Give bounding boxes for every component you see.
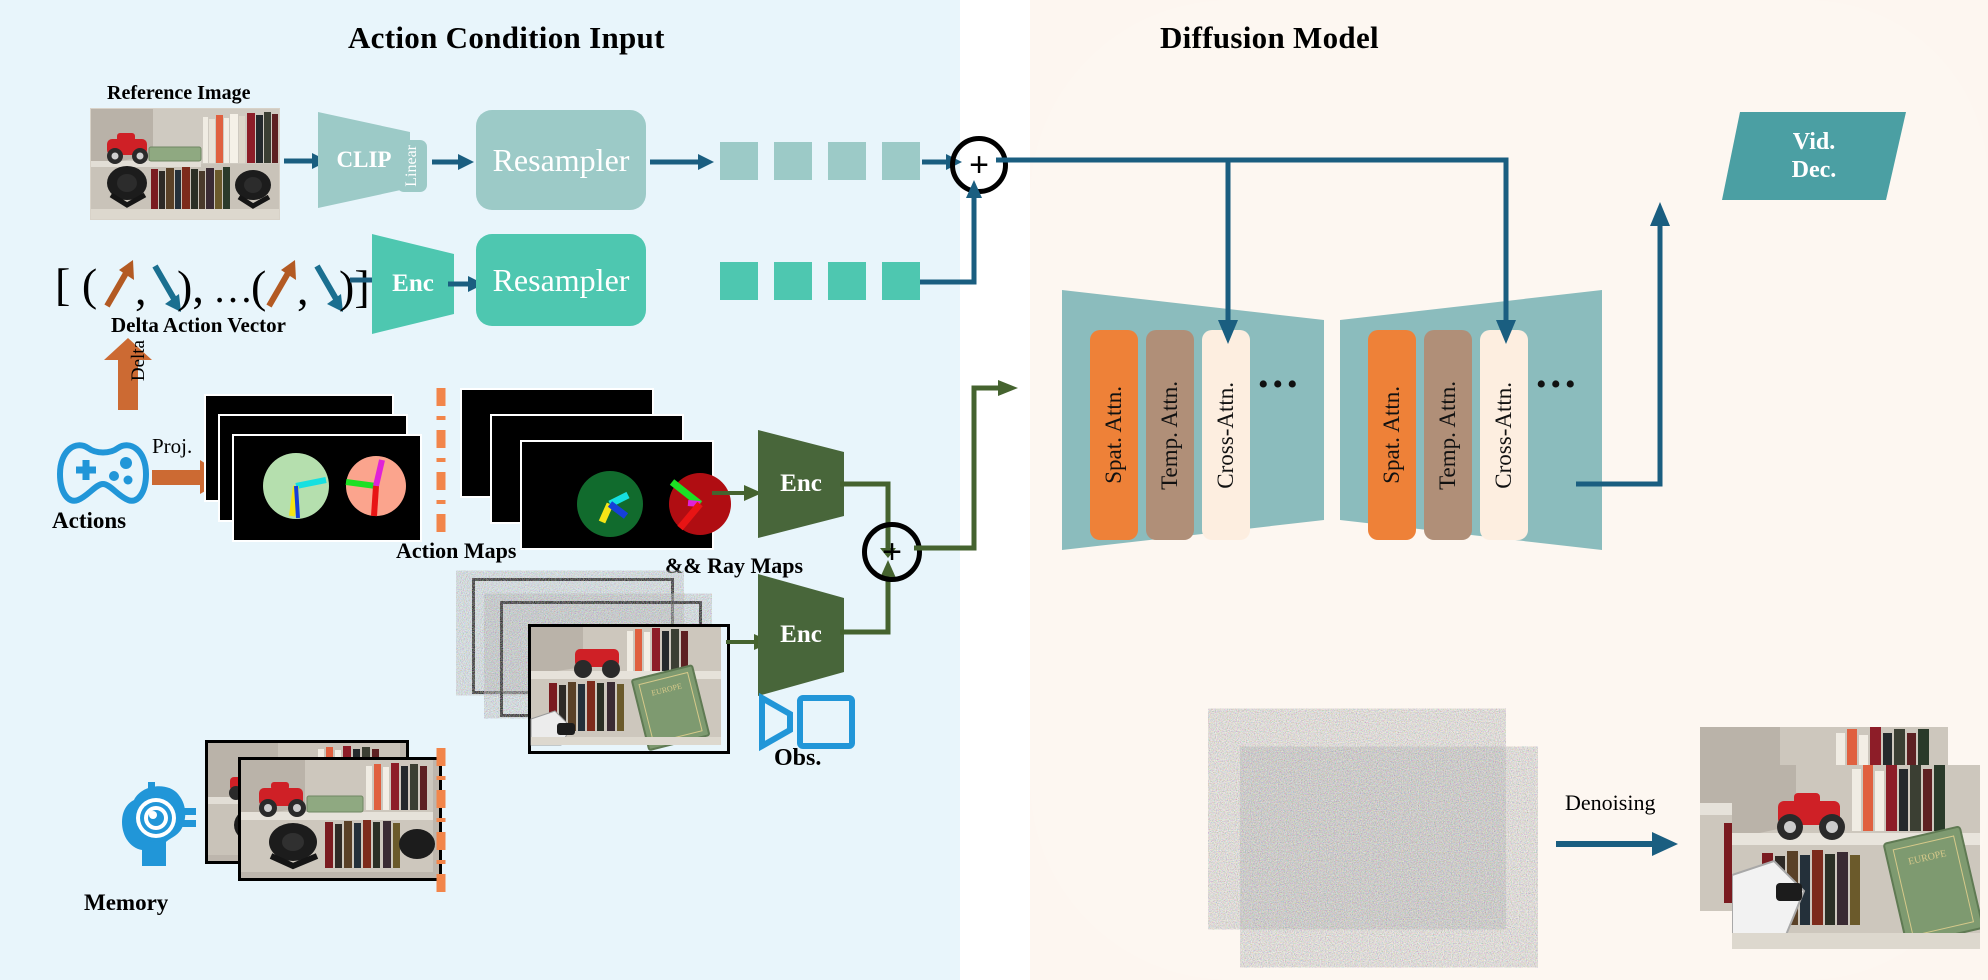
denoise-output-front: EUROPE	[1732, 765, 1980, 949]
action-encoder[interactable]: Enc	[370, 232, 456, 336]
svg-text:),: ),	[177, 261, 204, 312]
arrow-action-tokens-to-sum	[918, 178, 988, 288]
action-token	[720, 262, 758, 300]
delta-action-vector-expression: [ ( , ), … ( , )]	[55, 248, 375, 318]
reference-image-art	[91, 109, 279, 219]
plus-symbol: +	[969, 148, 989, 182]
action-map-front	[232, 434, 422, 542]
arrow-cond-to-cross-attn-2	[996, 152, 1556, 352]
raymaps-encoder-label: Enc	[756, 428, 846, 540]
action-token	[774, 262, 812, 300]
obs-encoder-label: Enc	[756, 572, 846, 698]
image-token	[882, 142, 920, 180]
ray-map-front	[520, 440, 714, 550]
cross-attn-2[interactable]: Cross-Attn.	[1480, 330, 1528, 540]
reference-image-photo	[90, 108, 280, 220]
action-encoder-label: Enc	[370, 232, 456, 336]
arrow-unet-to-video-decoder	[1566, 198, 1726, 498]
resampler-image[interactable]: Resampler	[476, 110, 646, 210]
actions-label: Actions	[52, 508, 126, 534]
denoise-input-front	[1265, 765, 1513, 949]
raymaps-encoder[interactable]: Enc	[756, 428, 846, 540]
arrow-sum-to-unet	[908, 378, 1026, 558]
spat-attn-1[interactable]: Spat. Attn.	[1090, 330, 1138, 540]
denoising-label: Denoising	[1565, 790, 1655, 816]
reference-image-label: Reference Image	[107, 82, 250, 105]
svg-text:[ (: [ (	[55, 259, 97, 310]
brain-memory-icon	[108, 780, 194, 884]
spat-attn-2-label: Spat. Attn.	[1379, 386, 1405, 484]
cross-attn-2-label: Cross-Attn.	[1491, 382, 1517, 489]
temp-attn-2[interactable]: Temp. Attn.	[1424, 330, 1472, 540]
obs-encoder[interactable]: Enc	[756, 572, 846, 698]
ray-map-front-art	[522, 442, 712, 548]
camera-icon	[756, 690, 856, 752]
resampler-action-label: Resampler	[493, 262, 630, 299]
panel-title-action: Action Condition Input	[348, 20, 665, 56]
video-decoder-line2: Dec.	[1792, 156, 1837, 184]
temp-attn-2-label: Temp. Attn.	[1435, 381, 1461, 490]
image-token	[720, 142, 758, 180]
video-decoder-line1: Vid.	[1793, 128, 1835, 156]
obs-label: Obs.	[774, 745, 821, 772]
action-token	[882, 262, 920, 300]
resampler-action[interactable]: Resampler	[476, 234, 646, 326]
spat-attn-1-label: Spat. Attn.	[1101, 386, 1127, 484]
delta-arrow-label: Delta	[128, 340, 150, 381]
cross-attn-1-label: Cross-Attn.	[1213, 382, 1239, 489]
temp-attn-1-label: Temp. Attn.	[1157, 381, 1183, 490]
spat-attn-2[interactable]: Spat. Attn.	[1368, 330, 1416, 540]
memory-photo-front	[238, 757, 442, 881]
svg-text:(: (	[251, 261, 266, 312]
cross-attn-1[interactable]: Cross-Attn.	[1202, 330, 1250, 540]
arrow-resampler-image-to-tokens	[650, 150, 714, 174]
proj-label: Proj.	[152, 434, 192, 459]
svg-text:,: ,	[297, 263, 309, 314]
video-decoder[interactable]: Vid. Dec.	[1720, 110, 1908, 202]
image-token	[828, 142, 866, 180]
action-token	[828, 262, 866, 300]
noisy-obs-front: EUROPE	[528, 624, 730, 754]
linear-block-label: Linear	[403, 145, 421, 187]
image-token	[774, 142, 812, 180]
gamepad-icon	[48, 430, 158, 510]
resampler-image-label: Resampler	[493, 142, 630, 179]
memory-label: Memory	[84, 890, 168, 916]
unet-block-1-ellipsis: •••	[1258, 368, 1302, 402]
plus-symbol: +	[882, 535, 902, 569]
temp-attn-1[interactable]: Temp. Attn.	[1146, 330, 1194, 540]
separator-dashdot-top	[436, 388, 446, 540]
svg-text:…: …	[213, 266, 253, 311]
action-map-front-art	[234, 436, 420, 540]
separator-dashdot-bottom	[436, 748, 446, 898]
arrow-denoising	[1556, 828, 1680, 860]
arrow-linear-to-resampler	[432, 150, 474, 174]
action-maps-label: Action Maps	[396, 538, 516, 564]
linear-block[interactable]: Linear	[397, 140, 427, 192]
delta-action-vector-label: Delta Action Vector	[111, 313, 286, 338]
panel-title-diffusion: Diffusion Model	[1160, 20, 1379, 56]
svg-text:,: ,	[135, 263, 147, 314]
